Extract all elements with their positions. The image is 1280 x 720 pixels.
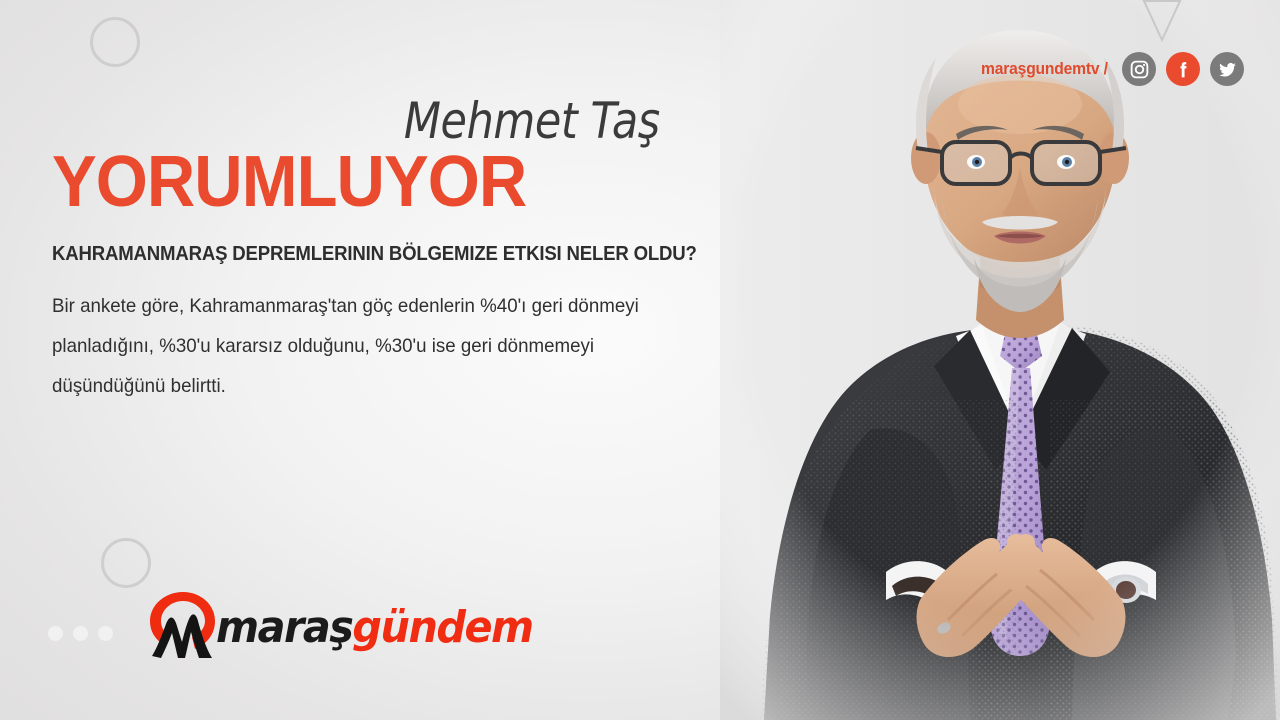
twitter-icon[interactable] (1210, 52, 1244, 86)
maras-gundem-mountain-mark (144, 588, 222, 667)
social-bar: maraşgundemtv / (970, 52, 1244, 86)
maras-gundem-logo[interactable]: maraşgündem (144, 588, 553, 667)
kicker-yorumluyor: YORUMLUYOR (52, 148, 684, 217)
byline-name: Mehmet Taş (147, 96, 732, 146)
decorative-dot (98, 626, 113, 641)
subject-photo (720, 0, 1280, 720)
logo-word-gundem: gündem (352, 602, 532, 653)
headline-block: Mehmet Taş YORUMLUYOR KAHRAMANMARAŞ DEPR… (52, 96, 732, 407)
decorative-dot (73, 626, 88, 641)
maras-gundem-wordmark: maraşgündem (216, 606, 533, 650)
logo-word-maras: maraş (216, 602, 352, 653)
facebook-icon[interactable] (1166, 52, 1200, 86)
question-headline: KAHRAMANMARAŞ DEPREMLERININ BÖLGEMIZE ET… (52, 243, 684, 265)
poster-canvas: maraşgundemtv / Mehmet Taş YORUMLUYOR KA… (0, 0, 1280, 720)
decorative-dot (48, 626, 63, 641)
summary-paragraph: Bir ankete göre, Kahramanmaraş'tan göç e… (52, 287, 695, 407)
subject-photo-illustration (720, 0, 1280, 720)
decorative-ring-top (90, 17, 140, 67)
instagram-icon[interactable] (1122, 52, 1156, 86)
decorative-ring-bottom (101, 538, 151, 588)
social-handle-label: maraşgundemtv / (981, 59, 1108, 79)
